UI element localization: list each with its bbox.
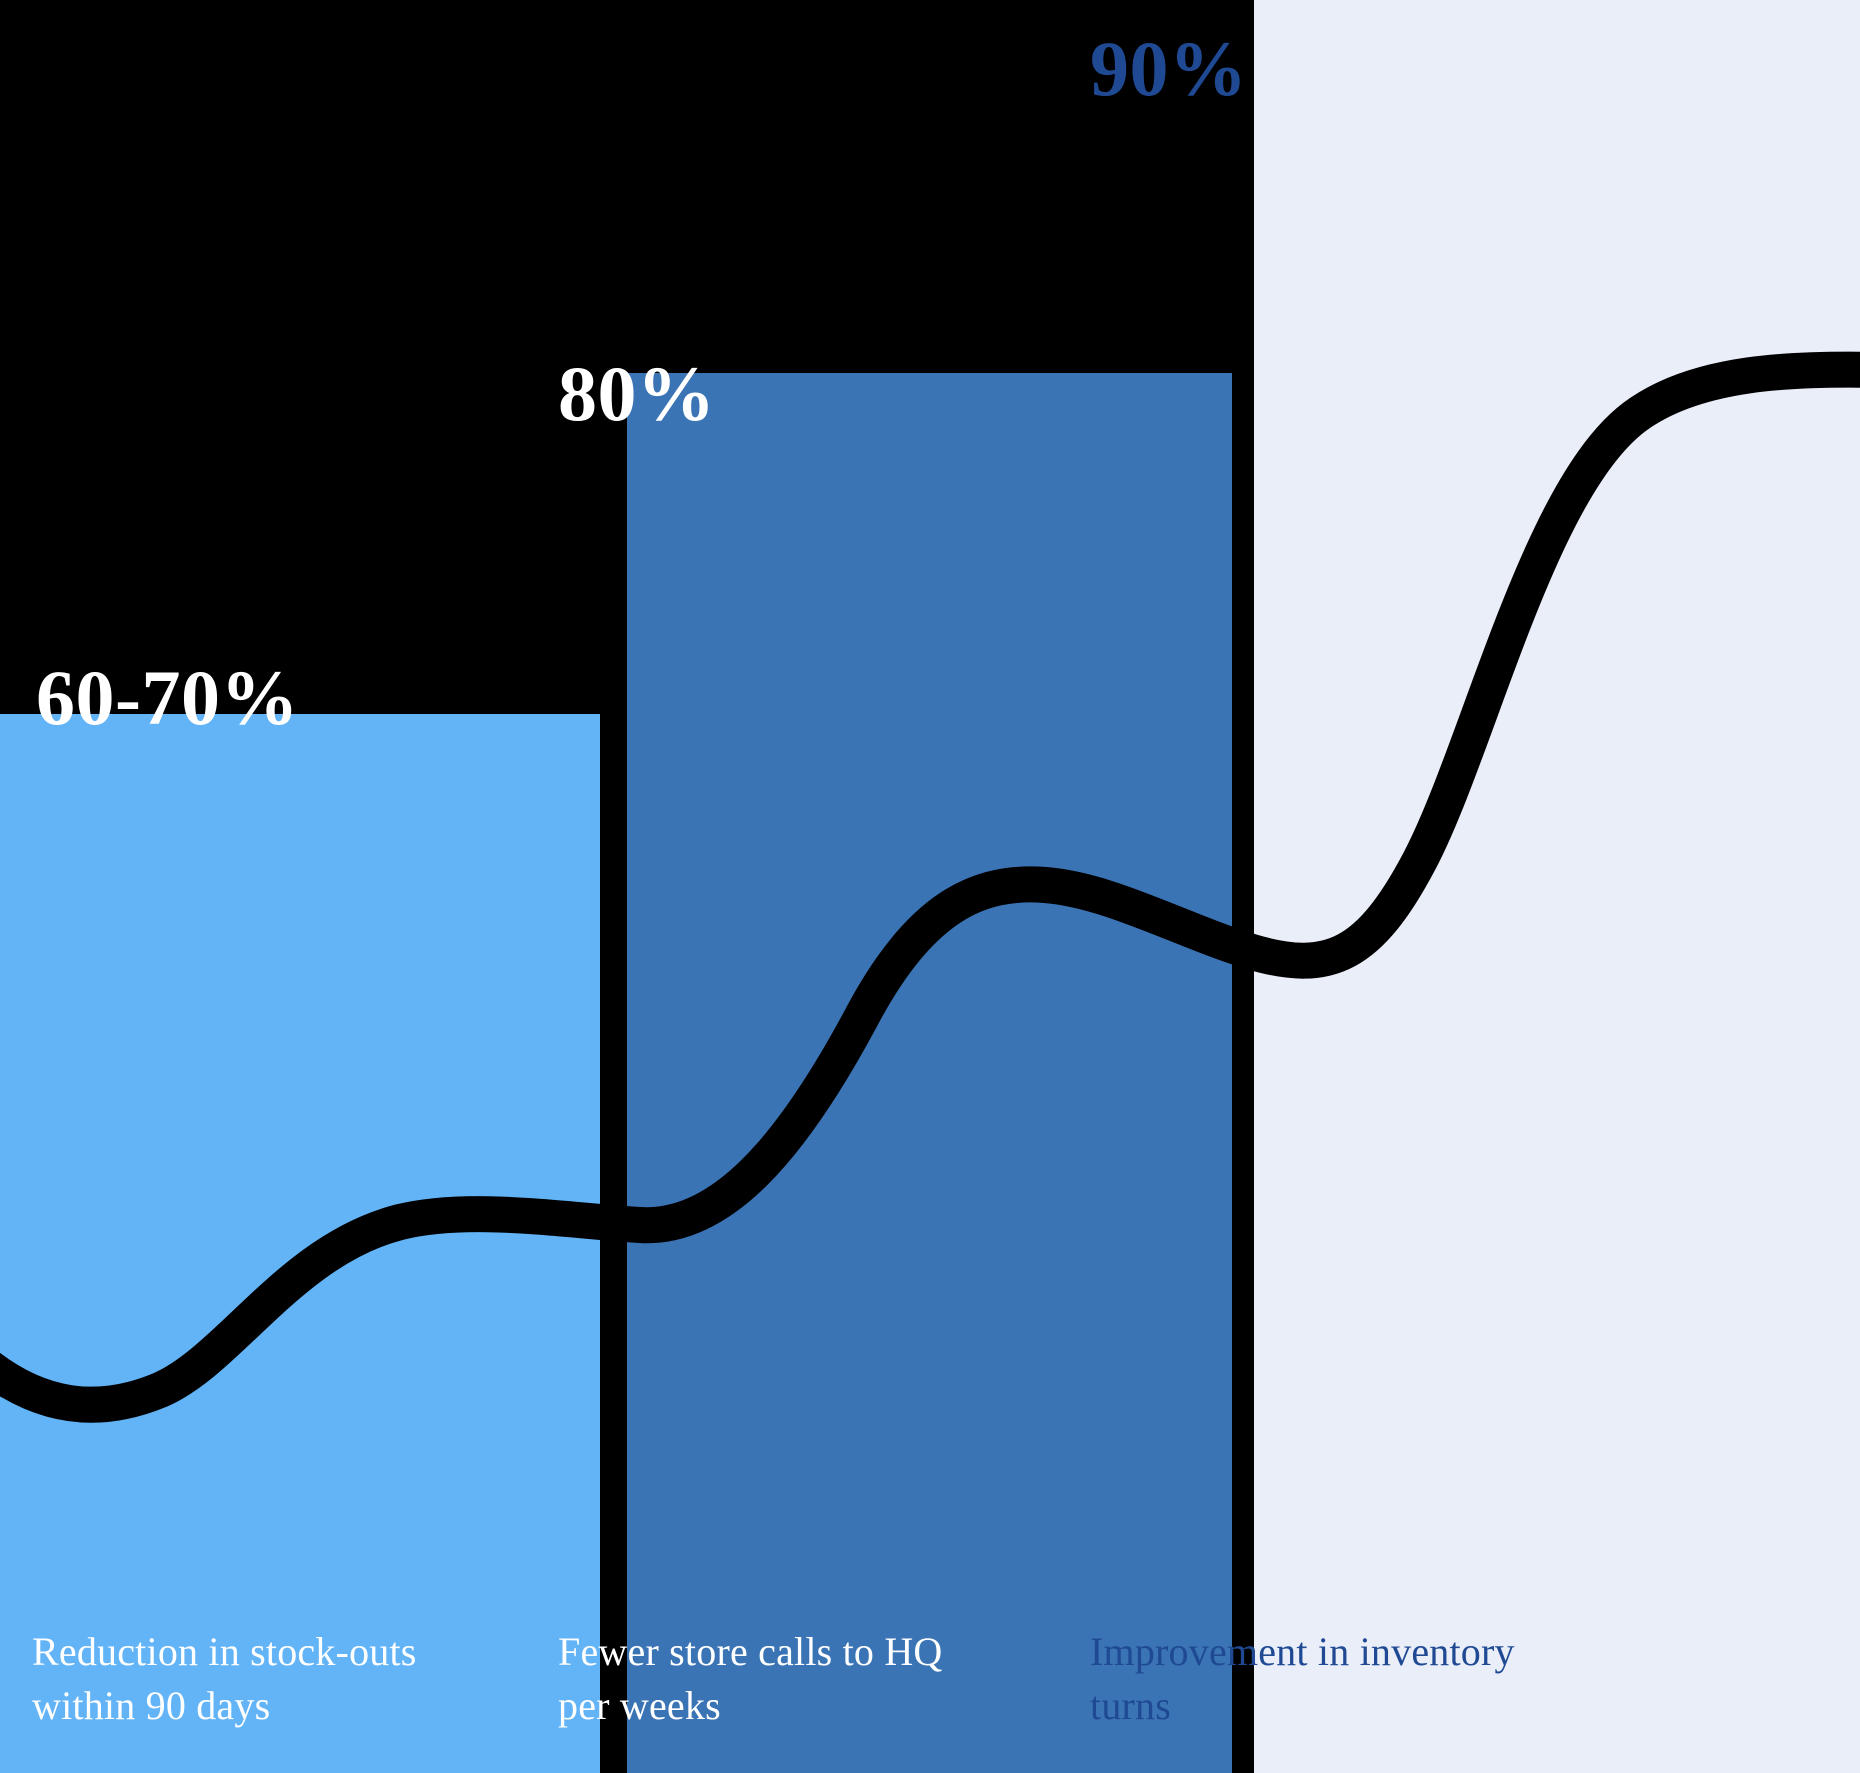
value-label-3: 90% [1090, 30, 1248, 108]
value-label-1: 60-70% [36, 659, 299, 737]
bar-column-2 [627, 373, 1232, 1773]
bar-column-1 [0, 714, 600, 1773]
caption-label-2: Fewer store calls to HQ per weeks [558, 1625, 1008, 1733]
infographic-bar-chart: 60-70% 80% 90% Reduction in stock-outs w… [0, 0, 1860, 1773]
value-label-2: 80% [558, 355, 716, 433]
bar-column-3 [1254, 0, 1860, 1773]
caption-label-1: Reduction in stock-outs within 90 days [32, 1625, 472, 1733]
caption-label-3: Improvement in inventory turns [1090, 1625, 1560, 1733]
